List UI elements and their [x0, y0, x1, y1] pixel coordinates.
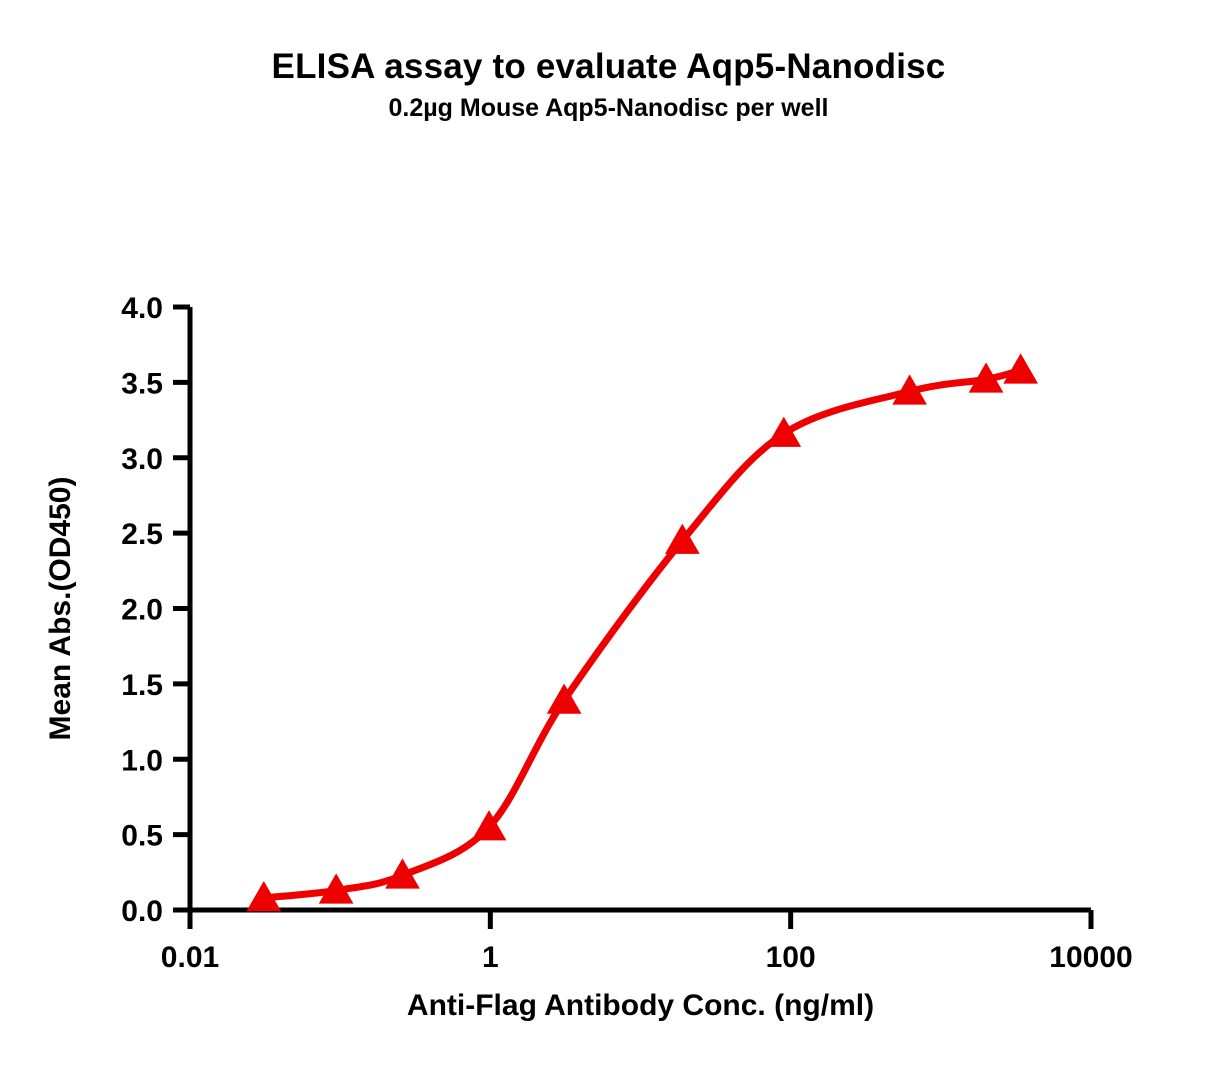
y-axis-tick-label: 3.0: [121, 443, 163, 476]
y-axis-tick-label: 4.0: [121, 292, 163, 325]
y-axis-tick-label: 1.0: [121, 744, 163, 777]
data-series: [246, 353, 1038, 911]
x-axis-title: Anti-Flag Antibody Conc. (ng/ml): [407, 989, 874, 1022]
data-point-marker: [1003, 353, 1038, 383]
x-axis-tick-label: 0.01: [161, 941, 219, 974]
data-point-marker: [766, 417, 801, 447]
y-axis-tick-label: 3.5: [121, 367, 163, 400]
y-axis-tick-label: 0.0: [121, 895, 163, 928]
y-axis-title: Mean Abs.(OD450): [44, 477, 77, 741]
y-axis-tick-label: 1.5: [121, 669, 163, 702]
series-line: [264, 370, 1021, 898]
y-axis-tick-label: 2.5: [121, 518, 163, 551]
y-axis-tick-label: 0.5: [121, 820, 163, 853]
x-axis: 0.01110010000: [161, 910, 1133, 974]
plot-area: 0.00.51.01.52.02.53.03.54.0 0.0111001000…: [0, 0, 1217, 1075]
x-axis-tick-label: 10000: [1049, 941, 1132, 974]
x-axis-tick-label: 100: [766, 941, 816, 974]
elisa-chart-figure: ELISA assay to evaluate Aqp5-Nanodisc 0.…: [0, 0, 1217, 1075]
y-axis-tick-label: 2.0: [121, 594, 163, 627]
y-axis: 0.00.51.01.52.02.53.03.54.0: [121, 292, 190, 928]
x-axis-tick-label: 1: [482, 941, 499, 974]
